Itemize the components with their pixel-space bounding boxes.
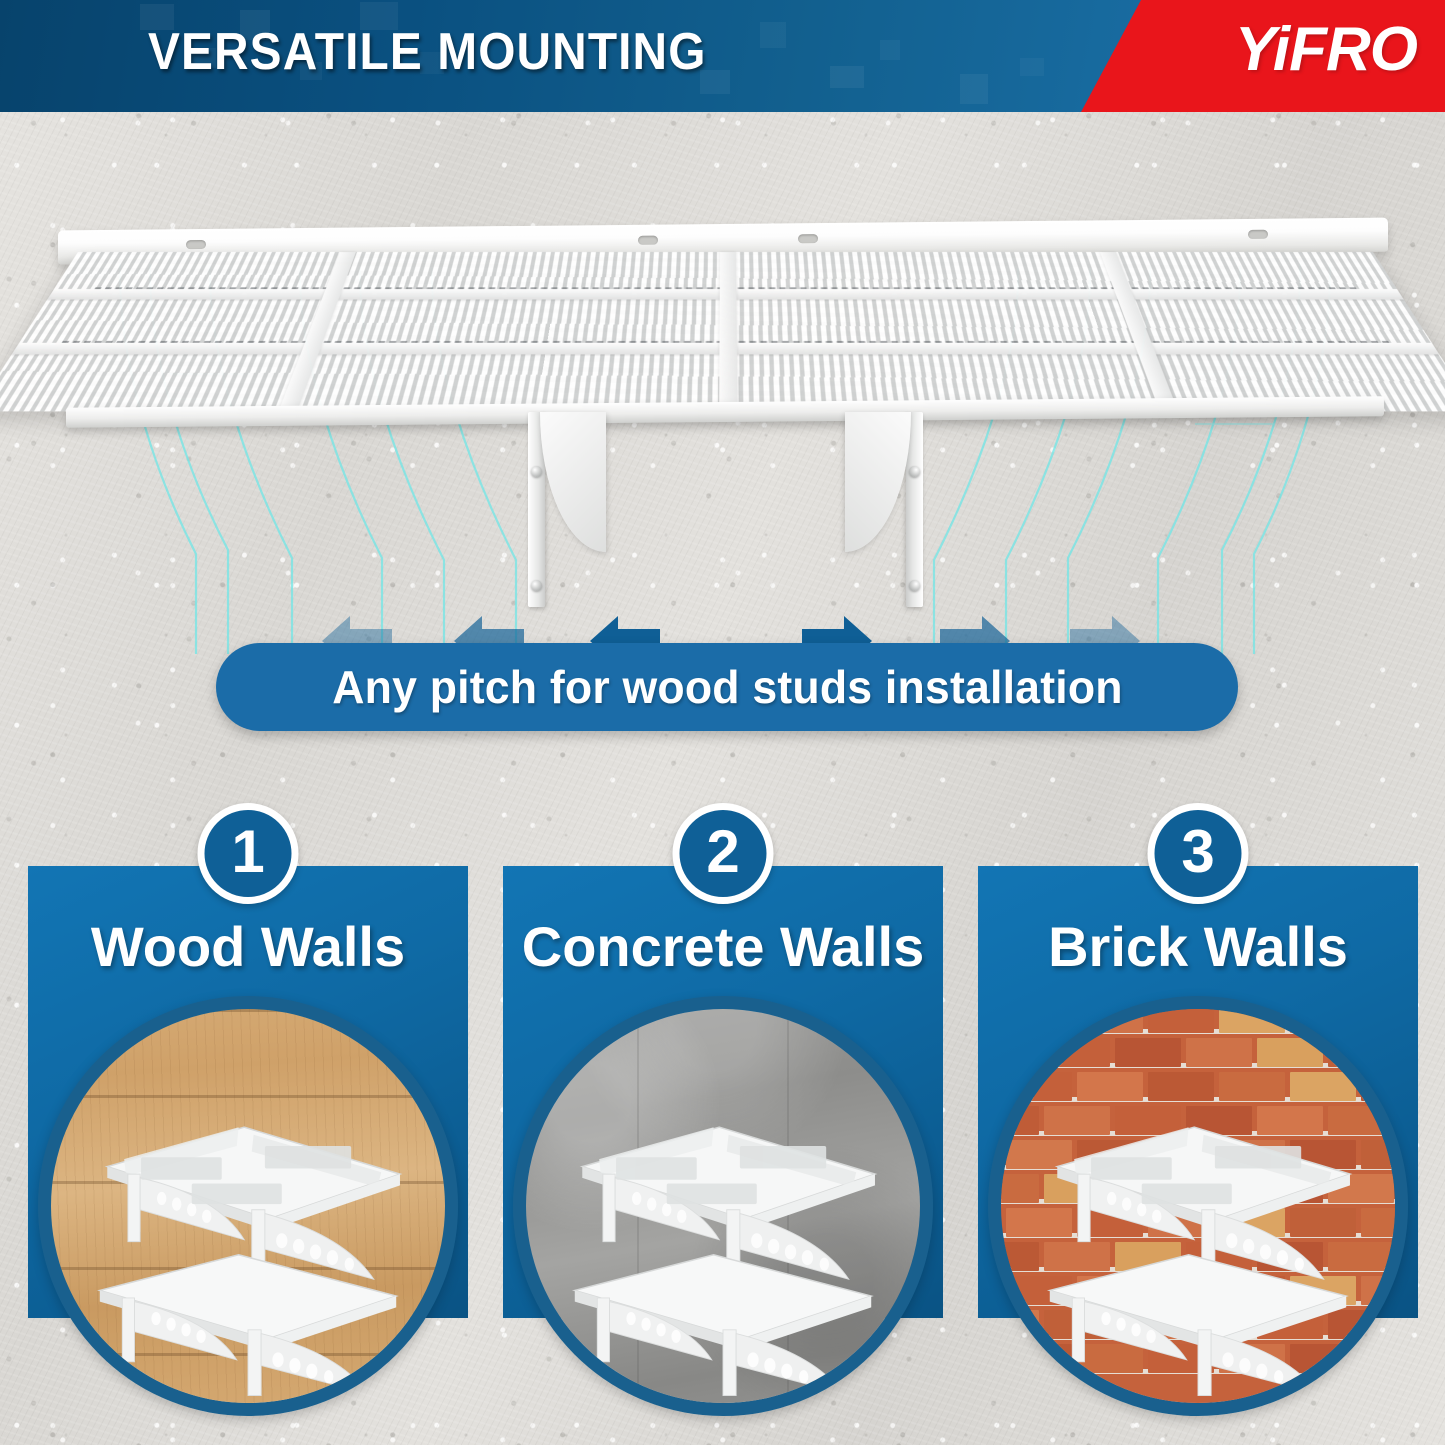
card-photo (1001, 1009, 1395, 1403)
card-title: Wood Walls (28, 914, 468, 979)
card-photo (51, 1009, 445, 1403)
infographic-page: VERSATILE MOUNTING YiFRO (0, 0, 1445, 1445)
card-number-badge: 1 (198, 803, 299, 904)
shelf-illustration (526, 1009, 920, 1403)
card-brick-walls[interactable]: 3 Brick Walls (978, 866, 1418, 1318)
card-title: Brick Walls (978, 914, 1418, 979)
card-photo (526, 1009, 920, 1403)
card-concrete-walls[interactable]: 2 Concrete Walls (503, 866, 943, 1318)
card-title: Concrete Walls (503, 914, 943, 979)
card-number-badge: 3 (1148, 803, 1249, 904)
card-number: 2 (706, 822, 739, 882)
shelf-illustration (1001, 1009, 1395, 1403)
card-photo-circle (988, 996, 1408, 1416)
card-photo-circle (38, 996, 458, 1416)
card-number-badge: 2 (673, 803, 774, 904)
card-number: 1 (231, 822, 264, 882)
shelf-illustration (51, 1009, 445, 1403)
card-wood-walls[interactable]: 1 Wood Walls (28, 866, 468, 1318)
card-photo-circle (513, 996, 933, 1416)
card-number: 3 (1181, 822, 1214, 882)
wall-type-cards: 1 Wood Walls (0, 0, 1445, 1445)
